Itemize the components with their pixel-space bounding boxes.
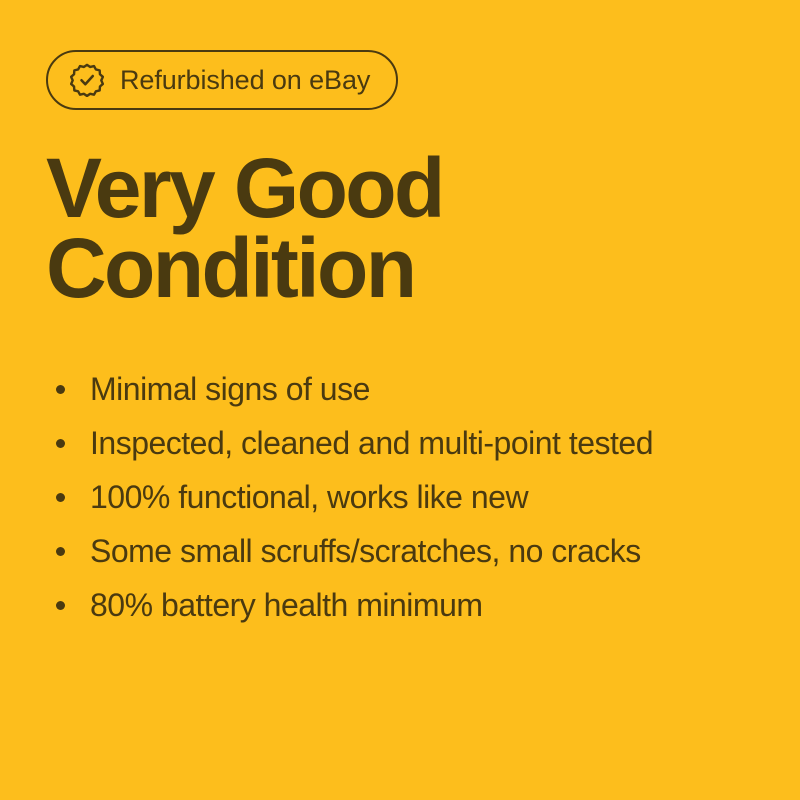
list-item: 100% functional, works like new: [46, 470, 766, 524]
refurbished-badge-label: Refurbished on eBay: [120, 67, 370, 94]
list-item: Inspected, cleaned and multi-point teste…: [46, 416, 766, 470]
list-item-label: Some small scruffs/scratches, no cracks: [90, 535, 641, 567]
list-item-label: Minimal signs of use: [90, 373, 370, 405]
bullet-icon: [56, 601, 65, 610]
list-item-label: 100% functional, works like new: [90, 481, 528, 513]
bullet-icon: [56, 439, 65, 448]
list-item-label: 80% battery health minimum: [90, 589, 483, 621]
refurbished-condition-card: Refurbished on eBay Very Good Condition …: [0, 0, 800, 800]
page-title: Very Good Condition: [46, 148, 746, 308]
verified-rosette-check-icon: [70, 63, 104, 97]
bullet-icon: [56, 385, 65, 394]
list-item: 80% battery health minimum: [46, 578, 766, 632]
list-item-label: Inspected, cleaned and multi-point teste…: [90, 427, 653, 459]
refurbished-badge: Refurbished on eBay: [46, 50, 398, 110]
list-item: Some small scruffs/scratches, no cracks: [46, 524, 766, 578]
list-item: Minimal signs of use: [46, 362, 766, 416]
bullet-icon: [56, 493, 65, 502]
condition-feature-list: Minimal signs of use Inspected, cleaned …: [46, 362, 766, 632]
bullet-icon: [56, 547, 65, 556]
